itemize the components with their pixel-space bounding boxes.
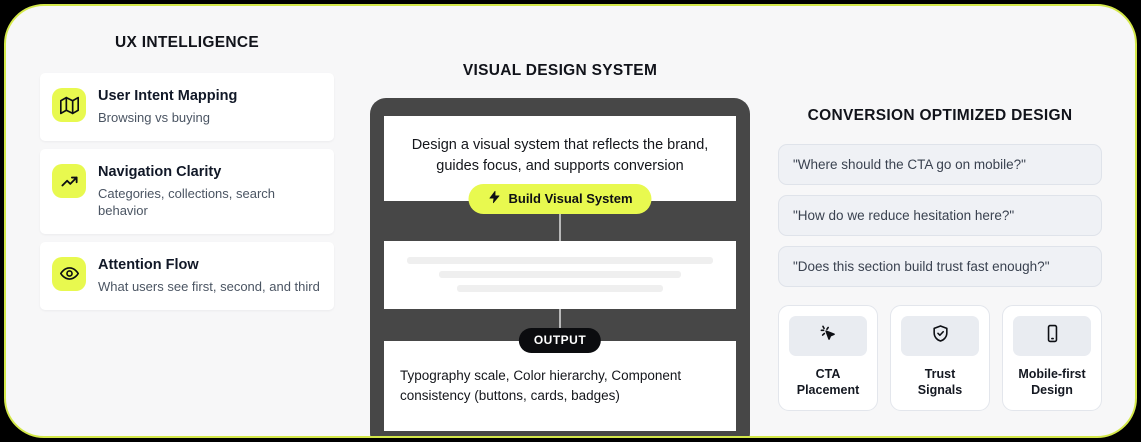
skeleton-placeholder-panel (384, 241, 736, 309)
build-visual-system-label: Build Visual System (508, 191, 632, 206)
ux-card-user-intent-mapping[interactable]: User Intent Mapping Browsing vs buying (40, 73, 334, 141)
ux-card-subtitle: Browsing vs buying (98, 110, 237, 127)
eye-icon (52, 257, 86, 291)
ux-card-title: Navigation Clarity (98, 163, 320, 181)
zap-icon (487, 190, 501, 207)
ux-card-text: Navigation Clarity Categories, collectio… (98, 162, 320, 220)
output-panel: Typography scale, Color hierarchy, Compo… (384, 341, 736, 431)
conversion-optimized-design-column: CONVERSION OPTIMIZED DESIGN "Where shoul… (758, 6, 1135, 411)
ux-card-navigation-clarity[interactable]: Navigation Clarity Categories, collectio… (40, 149, 334, 234)
ux-card-title: User Intent Mapping (98, 87, 237, 105)
shield-check-icon (931, 324, 950, 348)
ux-card-text: User Intent Mapping Browsing vs buying (98, 86, 237, 127)
output-text: Typography scale, Color hierarchy, Compo… (400, 366, 720, 405)
conversion-optimized-design-heading: CONVERSION OPTIMIZED DESIGN (778, 107, 1102, 125)
feature-icon-box (1013, 316, 1091, 356)
skeleton-bar (407, 257, 712, 264)
three-column-layout: UX INTELLIGENCE User Intent Mapping Brow… (6, 6, 1135, 436)
question-box[interactable]: "How do we reduce hesitation here?" (778, 195, 1102, 236)
build-visual-system-button[interactable]: Build Visual System (468, 184, 651, 214)
feature-icon-box (789, 316, 867, 356)
feature-card-mobile-first-design[interactable]: Mobile-first Design (1002, 305, 1102, 411)
ux-card-subtitle: Categories, collections, search behavior (98, 186, 320, 220)
cursor-click-icon (819, 324, 838, 348)
prompt-text: Design a visual system that reflects the… (400, 135, 720, 177)
skeleton-bar (457, 285, 664, 292)
ux-card-title: Attention Flow (98, 256, 320, 274)
prompt-panel: Design a visual system that reflects the… (384, 116, 736, 201)
map-icon (52, 88, 86, 122)
smartphone-icon (1043, 324, 1062, 348)
ux-card-attention-flow[interactable]: Attention Flow What users see first, sec… (40, 242, 334, 310)
feature-card-row: CTA Placement Trust Signals (778, 305, 1102, 411)
visual-design-system-column: VISUAL DESIGN SYSTEM Design a visual sys… (362, 6, 758, 438)
skeleton-bar (439, 271, 682, 278)
app-frame: UX INTELLIGENCE User Intent Mapping Brow… (4, 4, 1137, 438)
question-box[interactable]: "Does this section build trust fast enou… (778, 246, 1102, 287)
feature-label: Trust Signals (901, 367, 979, 398)
flow-container: Design a visual system that reflects the… (370, 98, 750, 438)
ux-card-subtitle: What users see first, second, and third (98, 279, 320, 296)
feature-icon-box (901, 316, 979, 356)
feature-card-trust-signals[interactable]: Trust Signals (890, 305, 990, 411)
output-section: OUTPUT Typography scale, Color hierarchy… (384, 341, 736, 431)
feature-card-cta-placement[interactable]: CTA Placement (778, 305, 878, 411)
question-box[interactable]: "Where should the CTA go on mobile?" (778, 144, 1102, 185)
feature-label: CTA Placement (789, 367, 867, 398)
feature-label: Mobile-first Design (1013, 367, 1091, 398)
visual-design-system-heading: VISUAL DESIGN SYSTEM (362, 62, 758, 80)
ux-intelligence-heading: UX INTELLIGENCE (40, 34, 334, 52)
trending-up-icon (52, 164, 86, 198)
output-badge: OUTPUT (519, 328, 601, 353)
ux-card-text: Attention Flow What users see first, sec… (98, 255, 320, 296)
ux-intelligence-column: UX INTELLIGENCE User Intent Mapping Brow… (6, 6, 362, 318)
